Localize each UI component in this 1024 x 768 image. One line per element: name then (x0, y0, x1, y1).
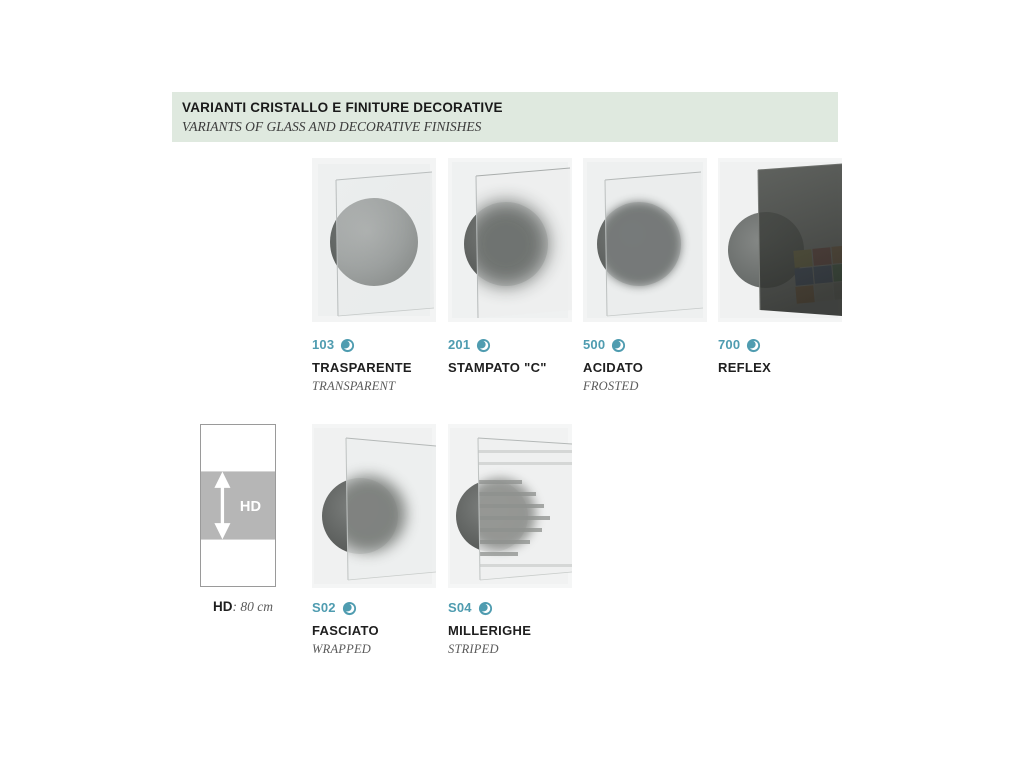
hd-caption-key: HD (213, 599, 233, 614)
finish-code: 700 (718, 336, 740, 354)
finish-caption-700: 700 REFLEX (718, 336, 878, 379)
ring-icon (746, 338, 761, 353)
sample-image-500[interactable] (583, 158, 707, 322)
finish-code: 500 (583, 336, 605, 354)
ring-icon (611, 338, 626, 353)
finish-code: S04 (448, 599, 472, 617)
sample-image-s02[interactable] (312, 424, 436, 588)
finish-name-en: TRANSPARENT (312, 379, 472, 394)
page-subtitle: VARIANTS OF GLASS AND DECORATIVE FINISHE… (182, 117, 838, 136)
sample-image-s04[interactable] (448, 424, 572, 588)
sample-image-201[interactable] (448, 158, 572, 322)
ring-icon (342, 601, 357, 616)
finish-code: 201 (448, 336, 470, 354)
page-title: VARIANTI CRISTALLO E FINITURE DECORATIVE (182, 98, 838, 117)
acidato-glass-sample (583, 158, 707, 322)
reflex-glass-sample (718, 158, 842, 322)
ring-icon (476, 338, 491, 353)
finish-name-it: MILLERIGHE (448, 623, 608, 639)
finish-code: S02 (312, 599, 336, 617)
transparent-glass-sample (312, 158, 436, 322)
hd-diagram-graphic: HD (201, 425, 275, 586)
finish-caption-s04: S04 MILLERIGHE STRIPED (448, 599, 608, 657)
section-header-band: VARIANTI CRISTALLO E FINITURE DECORATIVE… (172, 92, 838, 142)
sample-image-103[interactable] (312, 158, 436, 322)
finish-name-en: STRIPED (448, 642, 608, 657)
code-line-s04: S04 (448, 599, 608, 617)
hd-band (201, 471, 275, 539)
hd-band-label: HD (240, 499, 261, 515)
fasciato-glass-sample (312, 424, 436, 588)
hd-caption-value: : 80 cm (233, 599, 274, 614)
page-root: VARIANTI CRISTALLO E FINITURE DECORATIVE… (0, 0, 1024, 768)
hd-dimension-diagram: HD (200, 424, 276, 587)
stampato-c-glass-sample (448, 158, 572, 322)
finish-name-it: REFLEX (718, 360, 878, 376)
ring-icon (478, 601, 493, 616)
finish-name-en: FROSTED (583, 379, 743, 394)
finish-code: 103 (312, 336, 334, 354)
ring-icon (340, 338, 355, 353)
sample-image-700[interactable] (718, 158, 842, 322)
code-line-700: 700 (718, 336, 878, 354)
millerighe-glass-sample (448, 424, 572, 588)
hd-caption: HD: 80 cm (188, 598, 298, 615)
